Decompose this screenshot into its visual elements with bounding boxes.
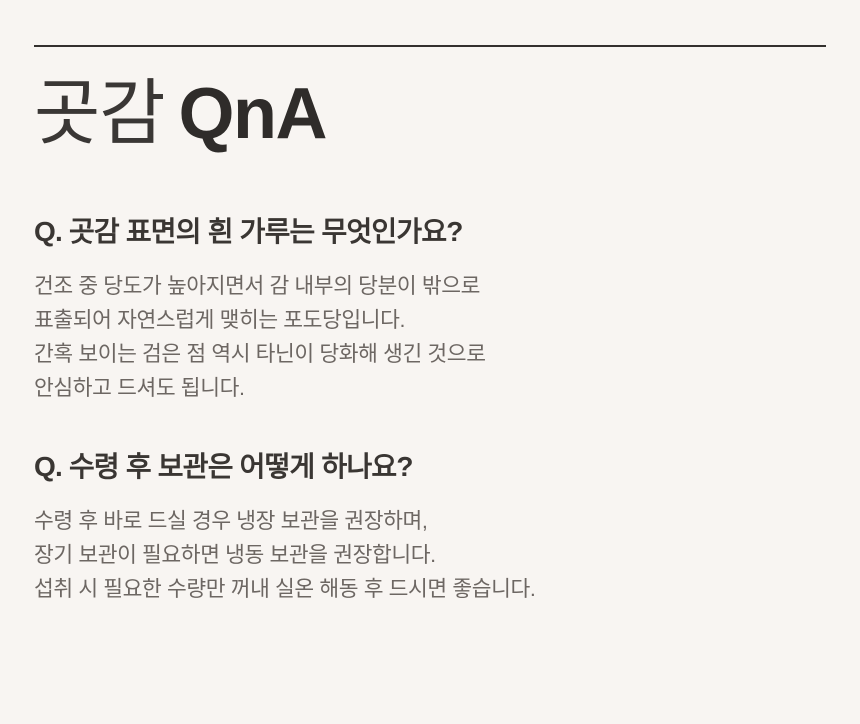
qna-list: Q. 곳감 표면의 흰 가루는 무엇인가요? 건조 중 당도가 높아지면서 감 … bbox=[34, 214, 834, 606]
qna-block-1: Q. 곳감 표면의 흰 가루는 무엇인가요? 건조 중 당도가 높아지면서 감 … bbox=[34, 214, 834, 405]
answer-line: 수령 후 바로 드실 경우 냉장 보관을 권장하며, bbox=[34, 504, 834, 538]
page-title-bold-part: QnA bbox=[178, 74, 325, 154]
answer-text-2: 수령 후 바로 드실 경우 냉장 보관을 권장하며, 장기 보관이 필요하면 냉… bbox=[34, 504, 834, 606]
answer-line: 건조 중 당도가 높아지면서 감 내부의 당분이 밖으로 bbox=[34, 269, 834, 303]
answer-line: 장기 보관이 필요하면 냉동 보관을 권장합니다. bbox=[34, 538, 834, 572]
answer-line: 간혹 보이는 검은 점 역시 타닌이 당화해 생긴 것으로 bbox=[34, 337, 834, 371]
qna-block-2: Q. 수령 후 보관은 어떻게 하나요? 수령 후 바로 드실 경우 냉장 보관… bbox=[34, 449, 834, 606]
answer-line: 안심하고 드셔도 됩니다. bbox=[34, 371, 834, 405]
page-title-light-part: 곳감 bbox=[34, 74, 164, 154]
page-title: 곳감QnA bbox=[34, 78, 326, 150]
top-divider-rule bbox=[34, 45, 826, 47]
question-heading-2: Q. 수령 후 보관은 어떻게 하나요? bbox=[34, 449, 834, 484]
answer-line: 표출되어 자연스럽게 맺히는 포도당입니다. bbox=[34, 303, 834, 337]
question-heading-1: Q. 곳감 표면의 흰 가루는 무엇인가요? bbox=[34, 214, 834, 249]
answer-text-1: 건조 중 당도가 높아지면서 감 내부의 당분이 밖으로 표출되어 자연스럽게 … bbox=[34, 269, 834, 405]
qna-page: 곳감QnA Q. 곳감 표면의 흰 가루는 무엇인가요? 건조 중 당도가 높아… bbox=[0, 0, 860, 724]
answer-line: 섭취 시 필요한 수량만 꺼내 실온 해동 후 드시면 좋습니다. bbox=[34, 572, 834, 606]
